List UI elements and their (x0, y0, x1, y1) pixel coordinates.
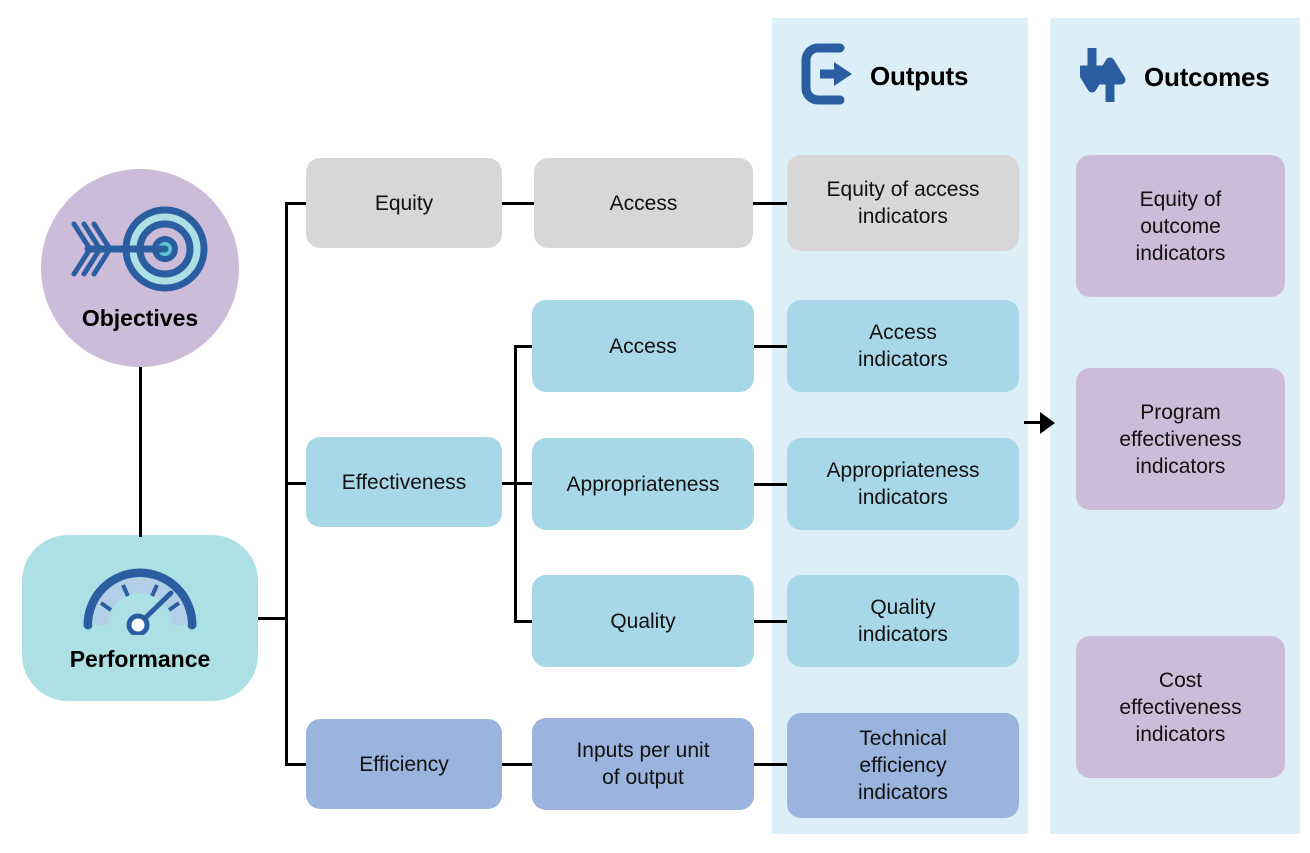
node-quality[interactable]: Quality (532, 575, 754, 667)
node-access-equity-label: Access (610, 190, 678, 217)
outcome-item-cost-effectiveness[interactable]: Cost effectiveness indicators (1076, 636, 1285, 778)
node-efficiency-label: Efficiency (359, 751, 449, 778)
output-item-technical-efficiency[interactable]: Technical efficiency indicators (787, 713, 1019, 818)
outcome-item-2-line2: effectiveness (1119, 694, 1241, 721)
root-node-performance[interactable]: Performance (22, 535, 258, 701)
diagram-canvas: Outputs Outcomes Objec (0, 0, 1310, 853)
connector-trunk-to-access (514, 345, 534, 348)
outcome-item-1-line3: indicators (1119, 453, 1241, 480)
connector-objectives-performance (139, 367, 142, 537)
output-item-1-line1: Access (858, 319, 948, 346)
root-node-objectives-label: Objectives (82, 305, 198, 332)
node-access[interactable]: Access (532, 300, 754, 392)
connector-trunk-to-quality (514, 620, 534, 623)
outputs-panel (772, 18, 1028, 834)
output-item-access[interactable]: Access indicators (787, 300, 1019, 392)
connector-appropriateness-indicators (753, 483, 787, 486)
root-node-objectives[interactable]: Objectives (41, 169, 239, 367)
connector-performance-stub (258, 617, 288, 620)
node-quality-label: Quality (610, 608, 675, 635)
connector-access-equity-indicators (753, 202, 787, 205)
connector-access-indicators (753, 345, 787, 348)
connector-trunk-to-equity (285, 202, 308, 205)
node-effectiveness-label: Effectiveness (342, 469, 467, 496)
outcome-item-1-line2: effectiveness (1119, 426, 1241, 453)
node-appropriateness-label: Appropriateness (567, 471, 720, 498)
node-equity[interactable]: Equity (306, 158, 502, 248)
outcomes-panel-title: Outcomes (1144, 62, 1270, 93)
outcome-item-2-line3: indicators (1119, 721, 1241, 748)
connector-trunk-to-effectiveness (285, 482, 308, 485)
output-item-4-line3: indicators (858, 779, 948, 806)
node-inputs-per-unit-of-output[interactable]: Inputs per unit of output (532, 718, 754, 810)
output-item-4-line2: efficiency (858, 752, 948, 779)
connector-trunk-to-efficiency (285, 763, 308, 766)
outcome-item-0-line1: Equity of (1136, 186, 1226, 213)
outcome-item-0-line3: indicators (1136, 240, 1226, 267)
outcomes-panel-header: Outcomes (1080, 44, 1270, 111)
output-item-equity-of-access[interactable]: Equity of access indicators (787, 155, 1019, 251)
outcome-item-program-effectiveness[interactable]: Program effectiveness indicators (1076, 368, 1285, 510)
connector-quality-indicators (753, 620, 787, 623)
gauge-icon (78, 563, 202, 640)
outputs-panel-header: Outputs (800, 42, 968, 111)
output-item-3-line1: Quality (858, 594, 948, 621)
outcome-item-equity-of-outcome[interactable]: Equity of outcome indicators (1076, 155, 1285, 297)
output-item-0-line1: Equity of access (827, 176, 980, 203)
node-equity-label: Equity (375, 190, 433, 217)
outcome-item-0-line2: outcome (1136, 213, 1226, 240)
output-item-1-line2: indicators (858, 346, 948, 373)
connector-outputs-outcomes-arrowhead (1040, 412, 1055, 434)
target-arrow-icon (64, 204, 216, 299)
output-item-quality[interactable]: Quality indicators (787, 575, 1019, 667)
connector-effectiveness-stub (502, 482, 534, 485)
outcome-item-2-line1: Cost (1119, 667, 1241, 694)
connector-level2-trunk (514, 345, 517, 623)
connector-equity-access (502, 202, 534, 205)
node-inputs-line2: of output (576, 764, 709, 791)
output-item-2-line1: Appropriateness (827, 457, 980, 484)
node-inputs-line1: Inputs per unit (576, 737, 709, 764)
connector-inputs-technical-indicators (753, 763, 787, 766)
node-efficiency[interactable]: Efficiency (306, 719, 502, 809)
outputs-panel-title: Outputs (870, 61, 968, 92)
node-access-equity[interactable]: Access (534, 158, 753, 248)
output-item-4-line1: Technical (858, 725, 948, 752)
output-item-appropriateness[interactable]: Appropriateness indicators (787, 438, 1019, 530)
root-node-performance-label: Performance (70, 646, 211, 673)
output-item-0-line2: indicators (827, 203, 980, 230)
node-effectiveness[interactable]: Effectiveness (306, 437, 502, 527)
output-item-2-line2: indicators (827, 484, 980, 511)
output-item-3-line2: indicators (858, 621, 948, 648)
node-appropriateness[interactable]: Appropriateness (532, 438, 754, 530)
exit-arrow-icon (800, 42, 856, 111)
outcome-item-1-line1: Program (1119, 399, 1241, 426)
down-up-arrows-icon (1080, 44, 1130, 111)
connector-efficiency-inputs (502, 763, 534, 766)
node-access-label: Access (609, 333, 677, 360)
